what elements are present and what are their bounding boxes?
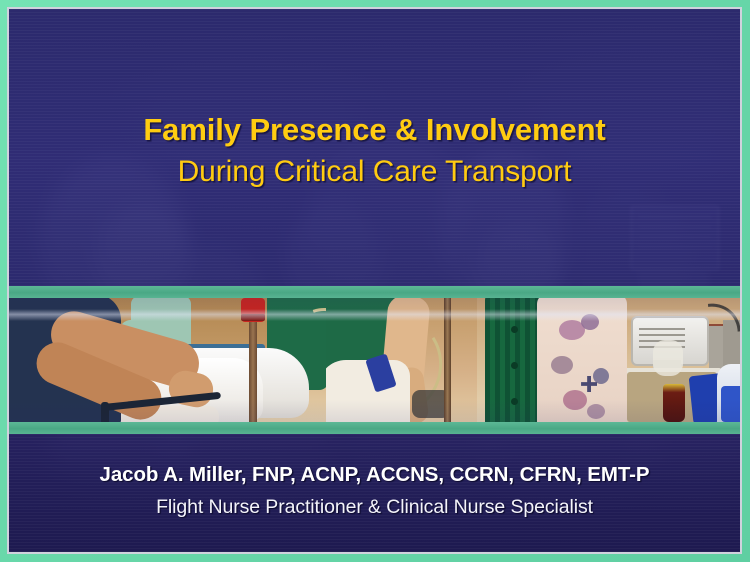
iv-pole [444,298,451,422]
divider-top [9,286,740,298]
photo-scene-equipment [477,298,740,422]
slide-inner-frame: Family Presence & Involvement During Cri… [7,7,742,554]
suction-canister [663,384,685,422]
blue-bed-drape [721,386,740,422]
title-slide: Family Presence & Involvement During Cri… [0,0,750,562]
photo-scene-bedside [326,298,477,422]
pole-red-cap-shadow [241,314,265,321]
presenter-name: Jacob A. Miller, FNP, ACNP, ACCNS, CCRN,… [100,463,650,487]
presenter-text-group: Jacob A. Miller, FNP, ACNP, ACCNS, CCRN,… [9,434,740,552]
iv-bag [653,340,683,376]
title-text-group: Family Presence & Involvement During Cri… [9,9,740,286]
slide-subtitle: During Critical Care Transport [178,154,572,189]
presenter-panel: Jacob A. Miller, FNP, ACNP, ACCNS, CCRN,… [9,434,740,552]
gurney-rail-post [101,402,109,422]
divider-bottom [9,422,740,434]
gown-floral-motif [581,314,599,330]
gown-floral-motif [587,404,605,419]
presenter-role: Flight Nurse Practitioner & Clinical Nur… [156,496,593,519]
photo-scene-transport [9,298,326,422]
photo-band [9,298,740,422]
gown-floral-motif [593,368,609,384]
photo-collage [9,298,740,422]
title-panel: Family Presence & Involvement During Cri… [9,9,740,286]
gown-floral-motif [563,390,587,410]
slide-title: Family Presence & Involvement [143,112,605,149]
gown-floral-motif [551,356,573,374]
